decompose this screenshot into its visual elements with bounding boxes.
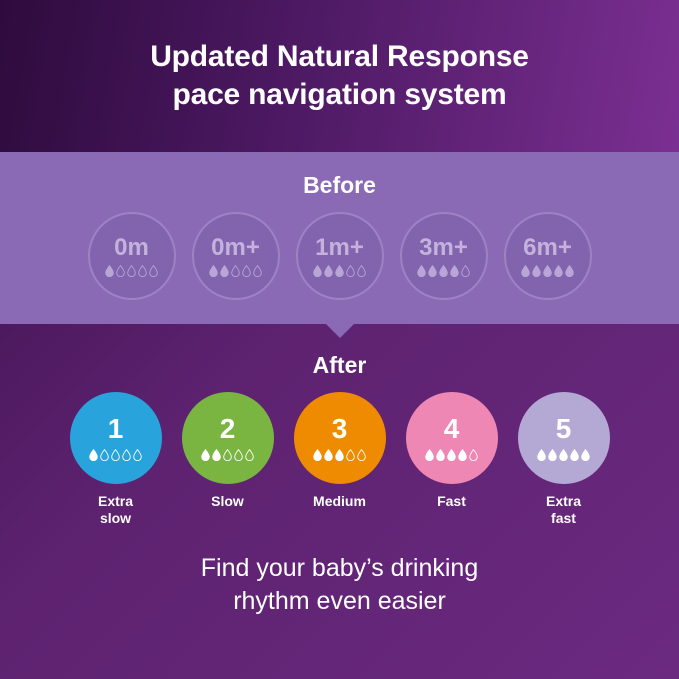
drop-filled-icon	[537, 449, 546, 461]
drop-filled-icon	[220, 265, 229, 277]
before-age-label: 6m+	[523, 236, 572, 260]
drop-filled-icon	[324, 449, 333, 461]
drop-filled-icon	[439, 265, 448, 277]
drop-filled-icon	[450, 265, 459, 277]
before-age-label: 0m	[114, 236, 149, 260]
after-flow-item: 4Fast	[404, 392, 500, 527]
drop-filled-icon	[89, 449, 98, 461]
drop-indicator-group	[105, 263, 158, 277]
after-flow-name: Slow	[211, 493, 244, 510]
drop-empty-icon	[357, 449, 366, 461]
drop-empty-icon	[461, 265, 470, 277]
after-section-label: After	[0, 352, 679, 379]
drop-empty-icon	[127, 265, 136, 277]
before-flow-circle: 6m+	[504, 212, 592, 300]
drop-empty-icon	[346, 449, 355, 461]
after-flow-circle: 3	[294, 392, 386, 484]
before-flow-circle: 0m+	[192, 212, 280, 300]
before-section-label: Before	[0, 172, 679, 199]
after-flow-name: Extra slow	[98, 493, 133, 527]
drop-filled-icon	[417, 265, 426, 277]
before-age-label: 1m+	[315, 236, 364, 260]
drop-filled-icon	[458, 449, 467, 461]
drop-filled-icon	[201, 449, 210, 461]
after-flow-number: 3	[332, 415, 348, 443]
header-banner: Updated Natural Response pace navigation…	[0, 0, 679, 152]
drop-empty-icon	[231, 265, 240, 277]
after-flow-circle: 5	[518, 392, 610, 484]
drop-filled-icon	[335, 449, 344, 461]
drop-empty-icon	[357, 265, 366, 277]
after-flow-item: 5Extra fast	[516, 392, 612, 527]
drop-empty-icon	[122, 449, 131, 461]
drop-filled-icon	[559, 449, 568, 461]
before-flow-circle: 0m	[88, 212, 176, 300]
drop-indicator-group	[417, 263, 470, 277]
drop-empty-icon	[133, 449, 142, 461]
before-items-row: 0m0m+1m+3m+6m+	[0, 212, 679, 300]
drop-filled-icon	[436, 449, 445, 461]
footer-tagline: Find your baby’s drinking rhythm even ea…	[0, 552, 679, 617]
drop-empty-icon	[111, 449, 120, 461]
after-items-row: 1Extra slow2Slow3Medium4Fast5Extra fast	[0, 392, 679, 527]
drop-filled-icon	[105, 265, 114, 277]
after-flow-item: 2Slow	[180, 392, 276, 527]
drop-empty-icon	[149, 265, 158, 277]
page-title: Updated Natural Response pace navigation…	[110, 38, 569, 114]
after-flow-name: Medium	[313, 493, 366, 510]
after-flow-number: 5	[556, 415, 572, 443]
infographic-page: Updated Natural Response pace navigation…	[0, 0, 679, 679]
drop-empty-icon	[469, 449, 478, 461]
drop-filled-icon	[313, 265, 322, 277]
before-section: Before 0m0m+1m+3m+6m+	[0, 152, 679, 324]
drop-indicator-group	[201, 447, 254, 461]
drop-indicator-group	[313, 447, 366, 461]
drop-filled-icon	[543, 265, 552, 277]
drop-filled-icon	[570, 449, 579, 461]
drop-indicator-group	[425, 447, 478, 461]
drop-indicator-group	[537, 447, 590, 461]
drop-filled-icon	[324, 265, 333, 277]
drop-filled-icon	[554, 265, 563, 277]
after-flow-number: 2	[220, 415, 236, 443]
after-flow-number: 1	[108, 415, 124, 443]
after-flow-circle: 2	[182, 392, 274, 484]
after-flow-circle: 1	[70, 392, 162, 484]
drop-filled-icon	[548, 449, 557, 461]
before-flow-circle: 3m+	[400, 212, 488, 300]
drop-filled-icon	[565, 265, 574, 277]
before-age-label: 3m+	[419, 236, 468, 260]
drop-filled-icon	[313, 449, 322, 461]
after-flow-name: Extra fast	[546, 493, 581, 527]
drop-filled-icon	[447, 449, 456, 461]
after-flow-number: 4	[444, 415, 460, 443]
drop-filled-icon	[335, 265, 344, 277]
after-flow-item: 1Extra slow	[68, 392, 164, 527]
drop-filled-icon	[425, 449, 434, 461]
drop-empty-icon	[116, 265, 125, 277]
drop-empty-icon	[100, 449, 109, 461]
after-flow-circle: 4	[406, 392, 498, 484]
drop-filled-icon	[581, 449, 590, 461]
drop-filled-icon	[521, 265, 530, 277]
before-age-label: 0m+	[211, 236, 260, 260]
drop-empty-icon	[138, 265, 147, 277]
drop-empty-icon	[223, 449, 232, 461]
drop-filled-icon	[532, 265, 541, 277]
drop-indicator-group	[521, 263, 574, 277]
after-flow-item: 3Medium	[292, 392, 388, 527]
drop-indicator-group	[313, 263, 366, 277]
down-arrow-icon	[326, 324, 354, 338]
drop-empty-icon	[346, 265, 355, 277]
drop-filled-icon	[428, 265, 437, 277]
after-flow-name: Fast	[437, 493, 466, 510]
drop-empty-icon	[234, 449, 243, 461]
drop-empty-icon	[245, 449, 254, 461]
drop-indicator-group	[89, 447, 142, 461]
drop-indicator-group	[209, 263, 262, 277]
drop-filled-icon	[209, 265, 218, 277]
before-flow-circle: 1m+	[296, 212, 384, 300]
drop-filled-icon	[212, 449, 221, 461]
drop-empty-icon	[253, 265, 262, 277]
drop-empty-icon	[242, 265, 251, 277]
